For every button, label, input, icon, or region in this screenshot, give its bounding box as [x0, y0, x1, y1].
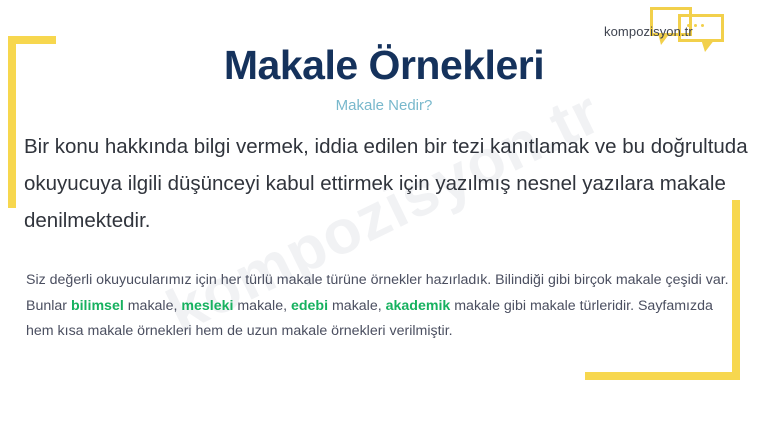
body-paragraph: Siz değerli okuyucularımız için her türl… — [26, 268, 730, 345]
keyword-highlight: edebi — [291, 298, 328, 314]
body-text-run: makale, — [233, 298, 291, 314]
keyword-highlight: mesleki — [181, 298, 233, 314]
page-subtitle: Makale Nedir? — [0, 97, 768, 114]
keyword-highlight: akademik — [386, 298, 451, 314]
body-text-run: makale, — [124, 298, 182, 314]
body-text-run: makale, — [328, 298, 386, 314]
slide-canvas: kompozisyon.tr kompozisyon.tr Makale Örn… — [0, 0, 768, 432]
keyword-highlight: bilimsel — [71, 298, 124, 314]
content-area: Makale Örnekleri Makale Nedir? Bir konu … — [0, 0, 768, 432]
lead-paragraph: Bir konu hakkında bilgi vermek, iddia ed… — [24, 128, 748, 239]
page-title: Makale Örnekleri — [0, 42, 768, 89]
